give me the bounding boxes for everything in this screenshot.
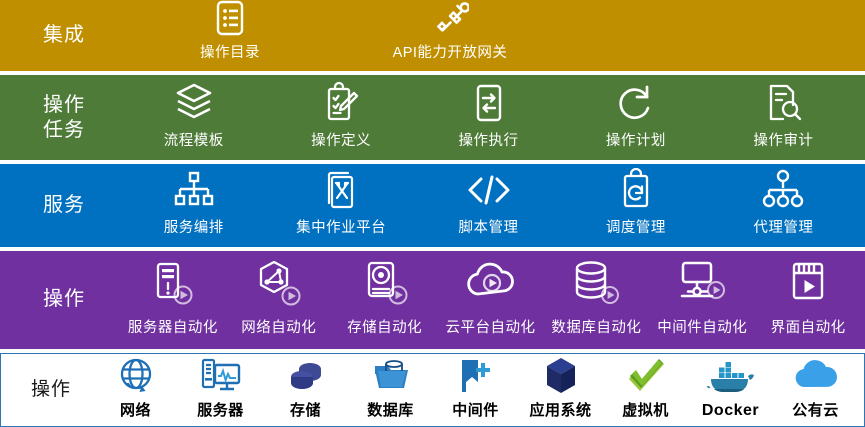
- cell-docker[interactable]: Docker: [688, 358, 773, 420]
- architecture-board: 集成 操作目录: [0, 0, 865, 427]
- cell-storage-automation[interactable]: 存储自动化: [332, 258, 438, 337]
- cell-label: 中间件自动化: [657, 316, 747, 337]
- server-tower-play-icon: [147, 258, 199, 310]
- cell-agent-management[interactable]: 代理管理: [710, 168, 857, 237]
- cell-network[interactable]: 网络: [93, 355, 178, 420]
- clipboard-refresh-icon: [618, 168, 654, 212]
- cell-operation-execution[interactable]: 操作执行: [415, 81, 562, 150]
- disk-stack-icon: [286, 355, 326, 397]
- cell-label: API能力开放网关: [393, 41, 508, 62]
- cell-storage[interactable]: 存储: [263, 355, 348, 420]
- cell-label: 应用系统: [529, 399, 591, 420]
- cell-application-system[interactable]: 应用系统: [518, 355, 603, 420]
- cell-public-cloud[interactable]: 公有云: [773, 355, 858, 420]
- cell-label: 网络: [120, 399, 151, 420]
- storage-disk-play-icon: [359, 258, 411, 310]
- band-label-integration: 集成: [0, 0, 120, 71]
- clipboard-pen-icon: [321, 81, 361, 125]
- band-task-cells: 流程模板 操作定义: [120, 75, 865, 160]
- band-task: 操作 任务 流程模板: [0, 75, 865, 160]
- flag-plus-icon: [457, 355, 495, 397]
- cell-label: 集中作业平台: [296, 216, 386, 237]
- documents-tools-icon: [321, 168, 361, 212]
- cell-process-template[interactable]: 流程模板: [120, 81, 267, 150]
- cell-label: 操作执行: [459, 129, 519, 150]
- band-label-operation: 操作: [0, 251, 120, 349]
- cube-icon: [543, 355, 579, 397]
- cell-label: 操作审计: [753, 129, 813, 150]
- cell-operation-plan[interactable]: 操作计划: [562, 81, 709, 150]
- cell-label: 中间件: [452, 399, 499, 420]
- cell-label: 操作计划: [606, 129, 666, 150]
- band-operation-cells: 服务器自动化: [120, 251, 865, 349]
- api-gateway-link-icon: [431, 0, 469, 36]
- band-label-resource: 操作: [1, 354, 93, 426]
- cell-database-automation[interactable]: 数据库自动化: [543, 258, 649, 337]
- cell-operation-audit[interactable]: 操作审计: [710, 81, 857, 150]
- database-play-icon: [570, 258, 622, 310]
- cell-label: 云平台自动化: [446, 316, 536, 337]
- cell-label: 操作定义: [311, 129, 371, 150]
- globe-icon: [116, 355, 156, 397]
- cell-middleware-automation[interactable]: 中间件自动化: [649, 258, 755, 337]
- band-integration: 集成 操作目录: [0, 0, 865, 71]
- cell-server[interactable]: 服务器: [178, 355, 263, 420]
- vmware-check-icon: [624, 355, 668, 397]
- cell-middleware[interactable]: 中间件: [433, 355, 518, 420]
- band-service-cells: 服务编排 集中作业平台: [120, 164, 865, 247]
- database-folder-icon: [370, 355, 412, 397]
- docker-whale-icon: [706, 358, 756, 400]
- cell-label: 存储自动化: [347, 316, 422, 337]
- cell-central-job-platform[interactable]: 集中作业平台: [267, 168, 414, 237]
- cell-label: 网络自动化: [241, 316, 316, 337]
- layers-icon: [171, 81, 217, 125]
- cell-label: 服务编排: [164, 216, 224, 237]
- code-brackets-icon: [465, 168, 513, 212]
- cell-script-management[interactable]: 脚本管理: [415, 168, 562, 237]
- ui-play-icon: [785, 258, 831, 310]
- cell-schedule-management[interactable]: 调度管理: [562, 168, 709, 237]
- cell-operation-definition[interactable]: 操作定义: [267, 81, 414, 150]
- cell-label: 数据库自动化: [551, 316, 641, 337]
- cell-label: 流程模板: [164, 129, 224, 150]
- band-integration-cells: 操作目录 API能力开放网关: [120, 0, 865, 71]
- hierarchy-icon: [172, 168, 216, 212]
- agent-tree-icon: [761, 168, 805, 212]
- cell-server-automation[interactable]: 服务器自动化: [120, 258, 226, 337]
- cell-label: Docker: [702, 402, 759, 420]
- band-label-task: 操作 任务: [0, 75, 120, 160]
- list-catalog-icon: [215, 0, 245, 36]
- cell-cloud-automation[interactable]: 云平台自动化: [438, 258, 544, 337]
- cell-label: 界面自动化: [771, 316, 846, 337]
- cell-label: 虚拟机: [622, 399, 669, 420]
- cell-api-gateway[interactable]: API能力开放网关: [340, 0, 560, 62]
- band-resource: 操作 网络: [0, 353, 865, 427]
- cell-label: 调度管理: [606, 216, 666, 237]
- cloud-play-icon: [463, 258, 519, 310]
- band-label-service: 服务: [0, 164, 120, 247]
- cell-label: 脚本管理: [459, 216, 519, 237]
- cell-label: 数据库: [367, 399, 414, 420]
- refresh-cycle-icon: [614, 81, 658, 125]
- band-operation: 操作: [0, 251, 865, 349]
- cell-label: 公有云: [792, 399, 839, 420]
- cell-label: 操作目录: [200, 41, 260, 62]
- exchange-arrows-icon: [471, 81, 507, 125]
- band-resource-cells: 网络: [93, 354, 864, 426]
- cell-ui-automation[interactable]: 界面自动化: [755, 258, 861, 337]
- server-monitor-icon: [199, 355, 243, 397]
- cell-label: 存储: [290, 399, 321, 420]
- middleware-play-icon: [676, 258, 728, 310]
- cell-label: 服务器自动化: [128, 316, 218, 337]
- cell-service-orchestration[interactable]: 服务编排: [120, 168, 267, 237]
- cloud-blue-icon: [792, 355, 840, 397]
- network-hex-play-icon: [253, 258, 305, 310]
- band-service: 服务 服务编排: [0, 164, 865, 247]
- cell-operation-catalog[interactable]: 操作目录: [120, 0, 340, 62]
- cell-label: 服务器: [197, 399, 244, 420]
- cell-label: 代理管理: [753, 216, 813, 237]
- cell-database[interactable]: 数据库: [348, 355, 433, 420]
- cell-virtual-machine[interactable]: 虚拟机: [603, 355, 688, 420]
- cell-network-automation[interactable]: 网络自动化: [226, 258, 332, 337]
- document-search-icon: [763, 81, 803, 125]
